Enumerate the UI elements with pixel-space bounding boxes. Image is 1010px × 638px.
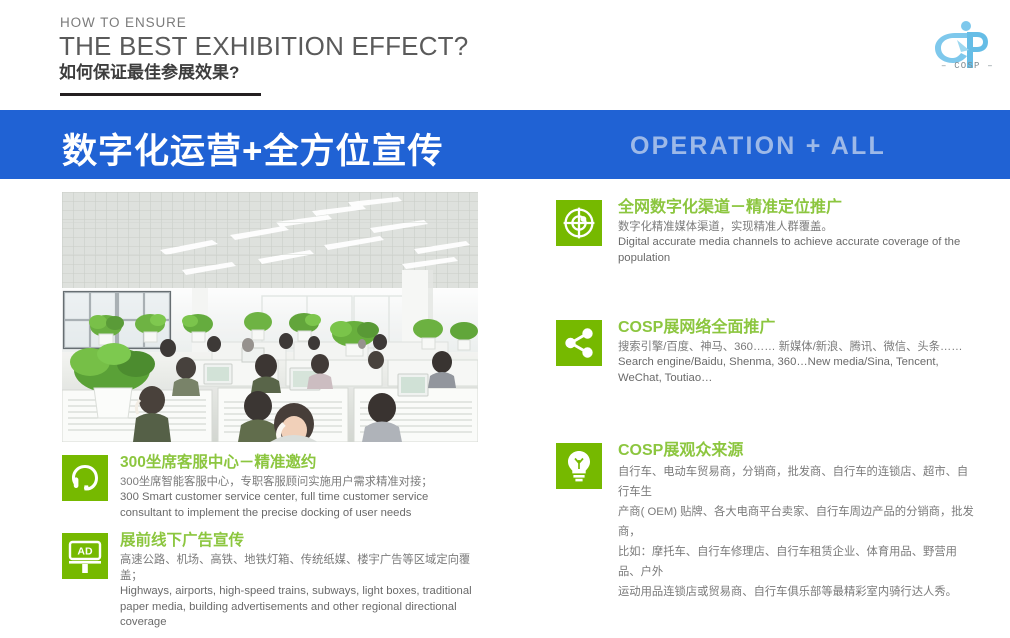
banner-title-chinese: 数字化运营+全方位宣传 (62, 123, 443, 174)
feature-heading: 300坐席客服中心－精准邀约 (120, 453, 482, 472)
feature-body-chinese-line-3: 比如：摩托车、自行车修理店、自行车租赁企业、体育用品、野营用品、户外 (618, 542, 976, 582)
header-divider (60, 93, 261, 96)
header-eyebrow: HOW TO ENSURE (60, 15, 187, 30)
feature-body-english: 300 Smart customer service center, full … (120, 490, 482, 521)
headset-icon (62, 455, 108, 501)
feature-body-chinese-line-2: 产商( OEM) 贴牌、各大电商平台卖家、自行车周边产品的分销商，批发商， (618, 502, 976, 542)
svg-text:AD: AD (77, 546, 93, 558)
banner-title-english: OPERATION + ALL (630, 132, 886, 161)
feature-body-english: Highways, airports, high-speed trains, s… (120, 584, 482, 631)
feature-body-chinese: 300坐席智能客服中心，专职客服顾问实施用户需求精准对接； (120, 474, 482, 490)
feature-heading: COSP展网络全面推广 (618, 318, 976, 337)
call-center-photo (62, 192, 478, 442)
ad-billboard-icon: AD (62, 533, 108, 579)
page-title-chinese: 如何保证最佳参展效果? (59, 58, 239, 83)
section-banner: 数字化运营+全方位宣传 OPERATION + ALL (0, 110, 1010, 179)
feature-heading: COSP展观众来源 (618, 441, 976, 460)
cosp-cyclist-logo: – COSP – (925, 18, 995, 70)
feature-body-chinese-line-1: 自行车、电动车贸易商，分销商，批发商、自行车的连锁店、超市、自行车生 (618, 462, 976, 502)
share-icon (556, 320, 602, 366)
feature-text-block: 全网数字化渠道－精准定位推广 数字化精准媒体渠道，实现精准人群覆盖。 Digit… (618, 198, 976, 266)
feature-body-chinese: 数字化精准媒体渠道，实现精准人群覆盖。 (618, 219, 976, 235)
feature-body-chinese: 高速公路、机场、高铁、地铁灯箱、传统纸媒、楼宇广告等区域定向覆盖； (120, 552, 482, 584)
feature-text-block: 300坐席客服中心－精准邀约 300坐席智能客服中心，专职客服顾问实施用户需求精… (120, 453, 482, 521)
feature-text-block: COSP展网络全面推广 搜索引擎/百度、神马、360…… 新媒体/新浪、腾讯、微… (618, 318, 976, 386)
feature-body-chinese-line-4: 运动用品连锁店或贸易商、自行车俱乐部等最精彩室内骑行达人秀。 (618, 582, 976, 602)
feature-body-english: Digital accurate media channels to achie… (618, 235, 976, 266)
feature-heading: 展前线下广告宣传 (120, 531, 482, 550)
lightbulb-icon (556, 443, 602, 489)
feature-body-chinese: 搜索引擎/百度、神马、360…… 新媒体/新浪、腾讯、微信、头条…… (618, 339, 976, 355)
feature-body-english: Search engine/Baidu, Shenma, 360…New med… (618, 355, 976, 386)
feature-heading: 全网数字化渠道－精准定位推广 (618, 198, 976, 217)
page-header: HOW TO ENSURE THE BEST EXHIBITION EFFECT… (0, 0, 1010, 110)
logo-wordmark: – COSP – (941, 61, 994, 70)
feature-text-block: COSP展观众来源 自行车、电动车贸易商，分销商，批发商、自行车的连锁店、超市、… (618, 441, 976, 602)
feature-text-block: 展前线下广告宣传 高速公路、机场、高铁、地铁灯箱、传统纸媒、楼宇广告等区域定向覆… (120, 531, 482, 631)
globe-target-icon (556, 200, 602, 246)
